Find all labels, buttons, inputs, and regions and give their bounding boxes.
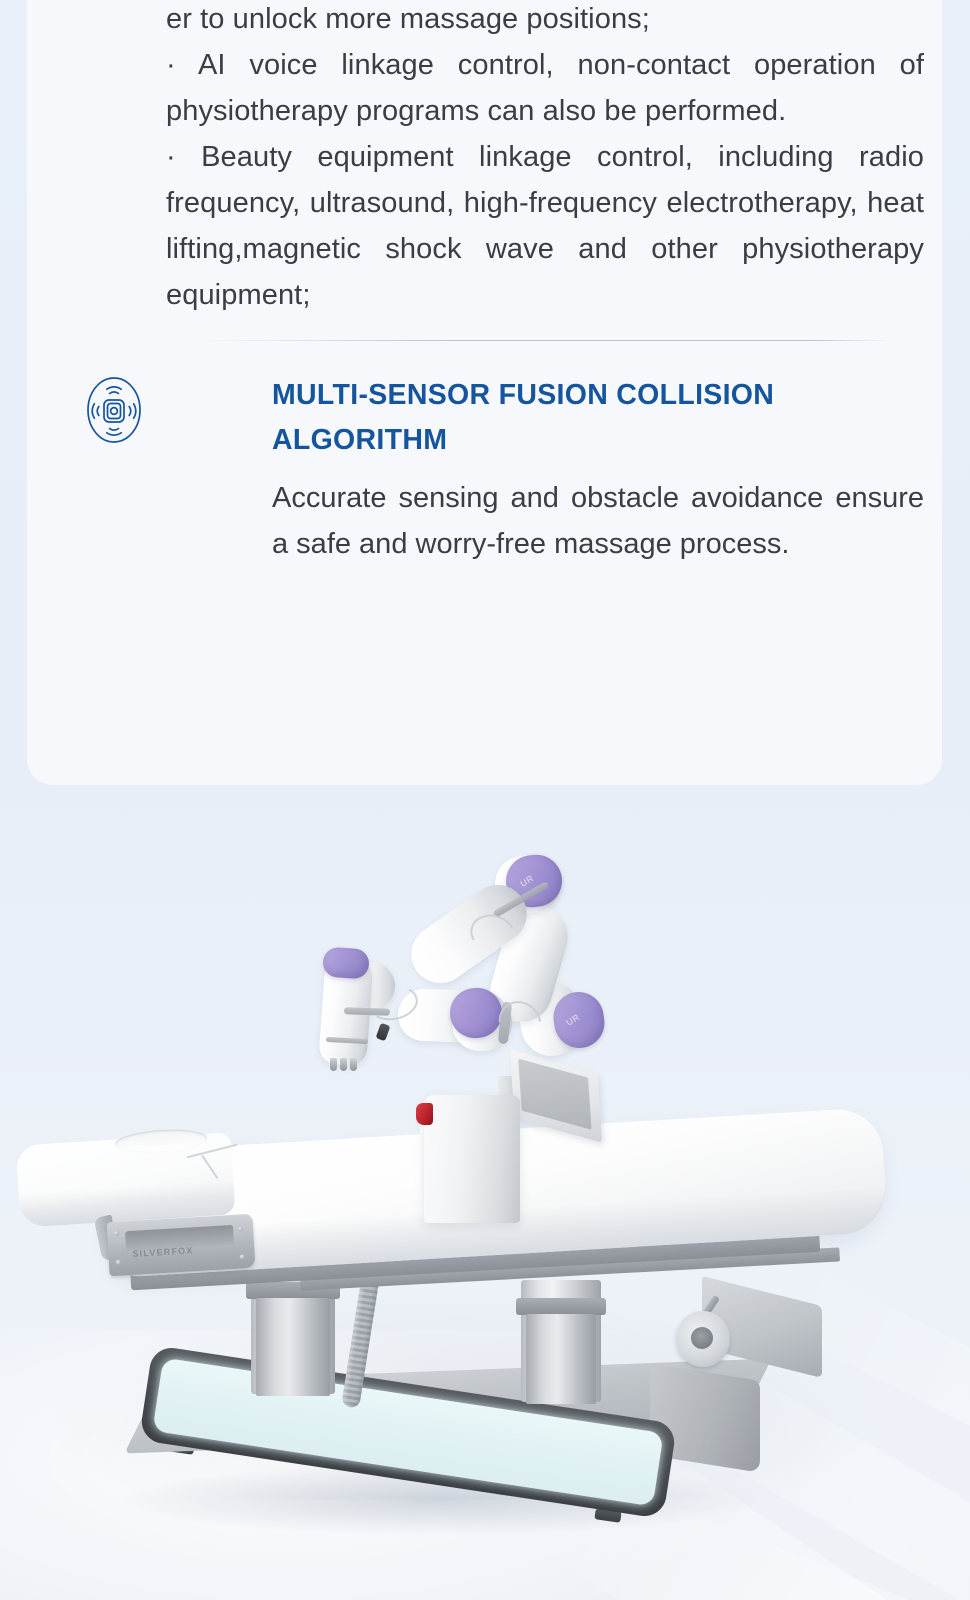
- arm-band: [492, 881, 549, 918]
- arm-band: [498, 1002, 512, 1045]
- arm-shoulder-joint: [515, 978, 587, 1060]
- bracket-bolt: [116, 1260, 121, 1265]
- bullet-beauty-equipment: · Beauty equipment linkage control, incl…: [166, 134, 924, 318]
- feature-title: MULTI-SENSOR FUSION COLLISION ALGORITHM: [272, 373, 924, 463]
- section-divider: [199, 340, 891, 341]
- arm-joint-cap: UR: [503, 851, 566, 910]
- feature-description: Accurate sensing and obstacle avoidance …: [272, 475, 924, 567]
- paragraph-continuation: er to unlock more massage positions;: [166, 0, 924, 42]
- bullet-ai-voice: · AI voice linkage control, non-contact …: [166, 42, 924, 134]
- body-copy: er to unlock more massage positions; · A…: [166, 0, 924, 318]
- paper-roll-holder: [668, 1285, 828, 1395]
- column-inner: [526, 1314, 596, 1404]
- headrest-bracket: SILVERFOX: [107, 1214, 256, 1277]
- tool-connector: [376, 1023, 391, 1041]
- page-background: SILVERFOX UR UR: [0, 0, 970, 1600]
- arm-forearm-link: [400, 874, 538, 995]
- arm-tool-link: [318, 953, 374, 1066]
- arm-wrist-joint-2: [343, 960, 396, 1011]
- arm-band: [344, 1007, 390, 1016]
- arm-joint-cap: UR: [550, 989, 607, 1051]
- bracket-bolt: [114, 1231, 119, 1236]
- arm-wrist-link: [397, 988, 509, 1044]
- arm-joint-cap: [448, 985, 505, 1040]
- arm-cable: [490, 993, 549, 1052]
- arm-band: [326, 1037, 368, 1044]
- arm-elbow-joint: [492, 852, 564, 917]
- column-inner: [256, 1298, 330, 1396]
- column-collar: [516, 1298, 606, 1315]
- paper-roll-core: [691, 1327, 713, 1349]
- tablet-screen: [518, 1059, 591, 1130]
- arm-wrist-joint-1: [449, 992, 515, 1054]
- arm-upper-link: [483, 899, 575, 1030]
- bracket-bolt: [240, 1254, 245, 1259]
- massage-end-effector: [329, 1058, 363, 1072]
- brand-label: SILVERFOX: [132, 1245, 194, 1259]
- bracket-bolt: [238, 1226, 243, 1231]
- feature-block: MULTI-SENSOR FUSION COLLISION ALGORITHM …: [166, 373, 924, 567]
- arm-tool-cap: [322, 946, 370, 979]
- table-lift-column: [521, 1280, 601, 1402]
- arm-cable: [465, 908, 521, 959]
- emergency-stop-button[interactable]: [416, 1103, 433, 1125]
- feature-text-card: er to unlock more massage positions; · A…: [27, 0, 942, 785]
- arm-cable: [365, 982, 420, 1024]
- multi-sensor-wave-icon: [84, 375, 144, 445]
- robot-pedestal: [424, 1095, 520, 1223]
